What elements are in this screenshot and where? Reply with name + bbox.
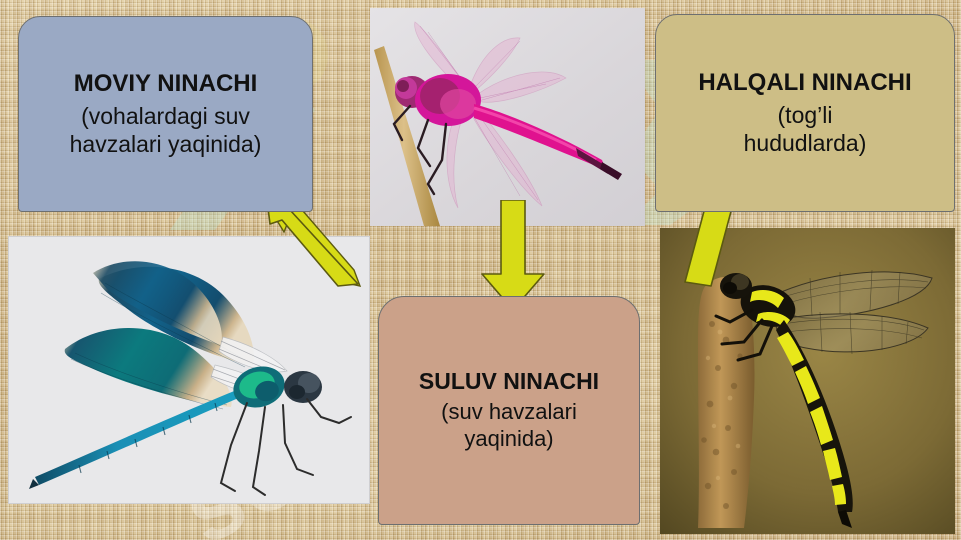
box-subtitle-halqali-line2: hududlarda) [744, 129, 867, 157]
box-title-suluv: SULUV NINACHI [419, 368, 599, 395]
box-title-moviy: MOVIY NINACHI [74, 70, 258, 98]
box-subtitle-halqali-line1: (tog’li [778, 101, 833, 129]
box-subtitle-moviy-line1: (vohalardagi suv [81, 102, 250, 130]
blue-damselfly-photo [8, 236, 370, 504]
pink-dragonfly-photo [370, 8, 645, 226]
label-box-suluv-ninachi[interactable]: SULUV NINACHI (suv havzalari yaqinida) [378, 296, 640, 525]
label-box-moviy-ninachi[interactable]: MOVIY NINACHI (vohalardagi suv havzalari… [18, 16, 313, 212]
box-title-halqali: HALQALI NINACHI [698, 69, 911, 97]
slide-canvas: soft soft [0, 0, 961, 540]
box-subtitle-moviy-line2: havzalari yaqinida) [70, 130, 262, 158]
label-box-halqali-ninachi[interactable]: HALQALI NINACHI (tog’li hududlarda) [655, 14, 955, 212]
yellow-black-dragonfly-photo [660, 228, 955, 534]
box-subtitle-suluv-line1: (suv havzalari [441, 399, 577, 426]
box-subtitle-suluv-line2: yaqinida) [464, 426, 553, 453]
